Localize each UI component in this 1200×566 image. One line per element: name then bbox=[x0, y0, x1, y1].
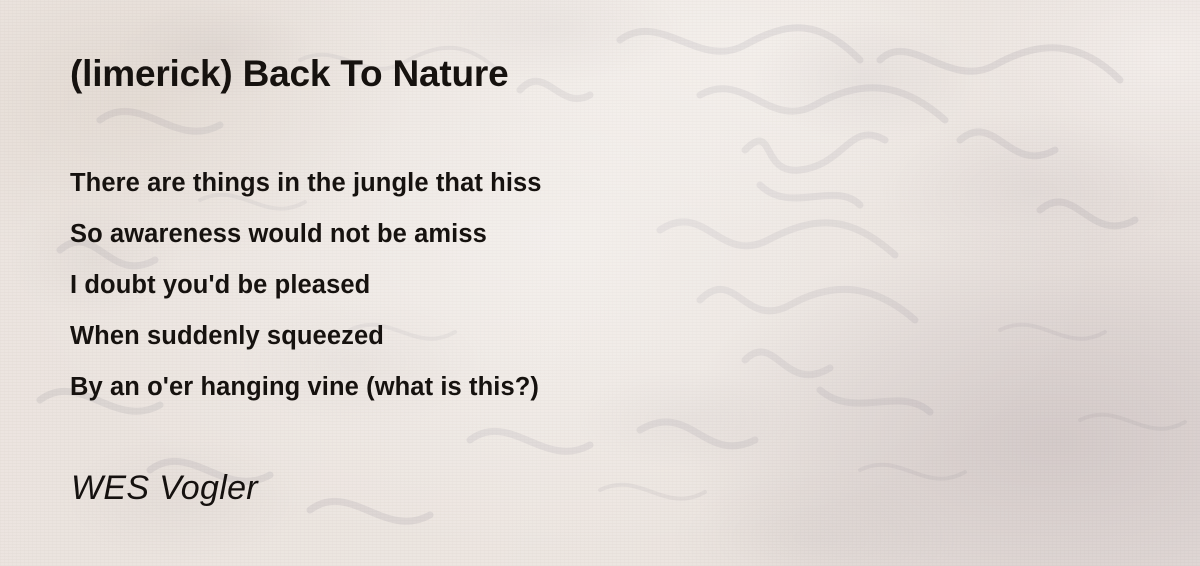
poem-stanza: There are things in the jungle that hiss… bbox=[70, 158, 542, 413]
poem-line: When suddenly squeezed bbox=[70, 311, 542, 362]
author-byline: WES Vogler bbox=[71, 467, 258, 509]
poem-line: By an o'er hanging vine (what is this?) bbox=[70, 362, 542, 413]
page-title: (limerick) Back To Nature bbox=[70, 52, 508, 96]
poem-line: So awareness would not be amiss bbox=[70, 209, 542, 260]
poem-line: I doubt you'd be pleased bbox=[70, 260, 542, 311]
poem-page: (limerick) Back To Nature There are thin… bbox=[0, 0, 1200, 566]
poem-line: There are things in the jungle that hiss bbox=[70, 158, 542, 209]
